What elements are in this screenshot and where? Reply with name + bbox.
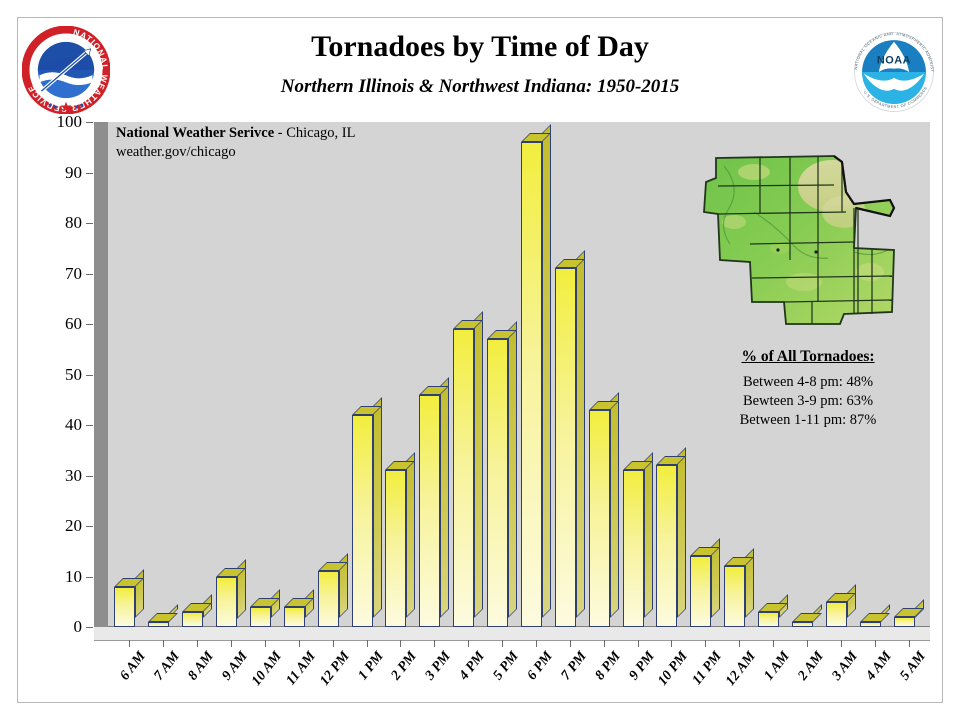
bar-side-face bbox=[474, 311, 483, 618]
x-axis-tick-mark bbox=[502, 640, 503, 647]
x-axis-tick-mark bbox=[163, 640, 164, 647]
y-axis-tick-mark bbox=[86, 577, 93, 578]
y-axis-tick-mark bbox=[86, 425, 93, 426]
bar-front-face bbox=[318, 571, 339, 627]
bar-side-face bbox=[135, 569, 144, 618]
y-axis-tick-label: 50 bbox=[0, 365, 82, 385]
bar-side-face bbox=[508, 321, 517, 618]
bar-2-am bbox=[792, 613, 813, 627]
bar-front-face bbox=[521, 142, 542, 627]
y-axis-tick-label: 70 bbox=[0, 264, 82, 284]
bar-9-pm bbox=[623, 461, 644, 627]
bar-front-face bbox=[826, 602, 847, 627]
bar-1-pm bbox=[352, 406, 373, 627]
bar-side-face bbox=[406, 452, 415, 618]
x-axis-tick-mark bbox=[604, 640, 605, 647]
bar-11-pm bbox=[690, 547, 711, 627]
x-axis-tick-mark bbox=[841, 640, 842, 647]
bar-side-face bbox=[373, 397, 382, 618]
bar-side-face bbox=[847, 584, 856, 618]
bar-front-face bbox=[623, 470, 644, 627]
y-axis-tick-label: 90 bbox=[0, 163, 82, 183]
y-axis-tick-mark bbox=[86, 476, 93, 477]
page-title: Tornadoes by Time of Day bbox=[0, 30, 960, 64]
bar-front-face bbox=[453, 329, 474, 627]
bar-front-face bbox=[656, 465, 677, 627]
y-axis-tick-mark bbox=[86, 122, 93, 123]
x-axis-tick-mark bbox=[570, 640, 571, 647]
bar-front-face bbox=[250, 607, 271, 627]
bar-10-pm bbox=[656, 456, 677, 627]
x-axis-tick-mark bbox=[638, 640, 639, 647]
bar-11-am bbox=[284, 598, 305, 627]
chart-left-wall bbox=[94, 122, 108, 627]
x-axis-tick-mark bbox=[231, 640, 232, 647]
y-axis-tick-label: 100 bbox=[0, 112, 82, 132]
y-axis-tick-mark bbox=[86, 627, 93, 628]
bar-front-face bbox=[216, 577, 237, 628]
y-axis-tick-label: 60 bbox=[0, 314, 82, 334]
page-subtitle: Northern Illinois & Northwest Indiana: 1… bbox=[0, 76, 960, 98]
bar-top-face bbox=[894, 608, 924, 617]
bar-3-am bbox=[826, 593, 847, 627]
bar-front-face bbox=[487, 339, 508, 627]
x-axis-tick-mark bbox=[367, 640, 368, 647]
x-axis-tick-mark bbox=[468, 640, 469, 647]
bar-front-face bbox=[182, 612, 203, 627]
bars-layer bbox=[108, 122, 930, 627]
x-axis-tick-mark bbox=[400, 640, 401, 647]
bar-1-am bbox=[758, 603, 779, 627]
chart-page: Tornadoes by Time of Day Northern Illino… bbox=[0, 0, 960, 720]
bar-top-face bbox=[792, 613, 822, 622]
bar-front-face bbox=[114, 587, 135, 627]
bar-front-face bbox=[352, 415, 373, 627]
svg-text:NOAA: NOAA bbox=[877, 55, 911, 67]
x-axis-tick-mark bbox=[909, 640, 910, 647]
bar-7-am bbox=[148, 613, 169, 627]
chart-floor bbox=[94, 627, 930, 641]
bar-front-face bbox=[690, 556, 711, 627]
bar-6-am bbox=[114, 578, 135, 627]
national-weather-service-logo: NATIONAL WEATHER SERVICE bbox=[22, 26, 110, 114]
bar-4-pm bbox=[453, 320, 474, 627]
bar-front-face bbox=[792, 622, 813, 627]
x-axis-tick-mark bbox=[434, 640, 435, 647]
bar-side-face bbox=[610, 392, 619, 618]
bar-side-face bbox=[576, 250, 585, 618]
y-axis-tick-label: 10 bbox=[0, 567, 82, 587]
y-axis-tick-label: 30 bbox=[0, 466, 82, 486]
bar-7-pm bbox=[555, 259, 576, 627]
x-axis-tick-mark bbox=[299, 640, 300, 647]
y-axis-tick-label: 0 bbox=[0, 617, 82, 637]
y-axis-tick-mark bbox=[86, 173, 93, 174]
x-axis-tick-mark bbox=[129, 640, 130, 647]
x-axis-tick-mark bbox=[265, 640, 266, 647]
x-axis-tick-mark bbox=[739, 640, 740, 647]
y-axis-tick-mark bbox=[86, 526, 93, 527]
x-axis-tick-mark bbox=[536, 640, 537, 647]
bar-12-am bbox=[724, 557, 745, 627]
bar-8-am bbox=[182, 603, 203, 627]
bar-side-face bbox=[542, 124, 551, 618]
bar-4-am bbox=[860, 613, 881, 627]
bar-side-face bbox=[677, 447, 686, 618]
bar-2-pm bbox=[385, 461, 406, 627]
bar-front-face bbox=[555, 268, 576, 627]
bar-front-face bbox=[724, 566, 745, 627]
bar-front-face bbox=[860, 622, 881, 627]
bar-5-pm bbox=[487, 330, 508, 627]
bar-front-face bbox=[284, 607, 305, 627]
bar-3-pm bbox=[419, 386, 440, 627]
bar-6-pm bbox=[521, 133, 542, 627]
x-axis-tick-mark bbox=[875, 640, 876, 647]
bar-10-am bbox=[250, 598, 271, 627]
bar-front-face bbox=[894, 617, 915, 627]
bar-side-face bbox=[644, 452, 653, 618]
bar-front-face bbox=[589, 410, 610, 627]
bar-8-pm bbox=[589, 401, 610, 627]
bar-front-face bbox=[385, 470, 406, 627]
x-axis-tick-mark bbox=[671, 640, 672, 647]
bar-top-face bbox=[860, 613, 890, 622]
bar-top-face bbox=[148, 613, 178, 622]
y-axis-tick-mark bbox=[86, 223, 93, 224]
x-axis-tick-mark bbox=[773, 640, 774, 647]
bar-front-face bbox=[148, 622, 169, 627]
bar-side-face bbox=[440, 377, 449, 618]
x-axis-tick-mark bbox=[807, 640, 808, 647]
x-axis-tick-mark bbox=[333, 640, 334, 647]
header: Tornadoes by Time of Day Northern Illino… bbox=[0, 0, 960, 110]
noaa-logo: NOAA NATIONAL OCEANIC AND ATMOSPHERIC AD… bbox=[852, 30, 936, 114]
bar-front-face bbox=[758, 612, 779, 627]
x-axis-tick-mark bbox=[705, 640, 706, 647]
x-axis-tick-mark bbox=[197, 640, 198, 647]
bar-9-am bbox=[216, 568, 237, 628]
bar-12-pm bbox=[318, 562, 339, 627]
y-axis-tick-label: 40 bbox=[0, 415, 82, 435]
y-axis-tick-mark bbox=[86, 274, 93, 275]
y-axis-tick-label: 80 bbox=[0, 213, 82, 233]
bar-5-am bbox=[894, 608, 915, 627]
y-axis-tick-label: 20 bbox=[0, 516, 82, 536]
y-axis-tick-mark bbox=[86, 324, 93, 325]
y-axis-tick-mark bbox=[86, 375, 93, 376]
bar-front-face bbox=[419, 395, 440, 627]
